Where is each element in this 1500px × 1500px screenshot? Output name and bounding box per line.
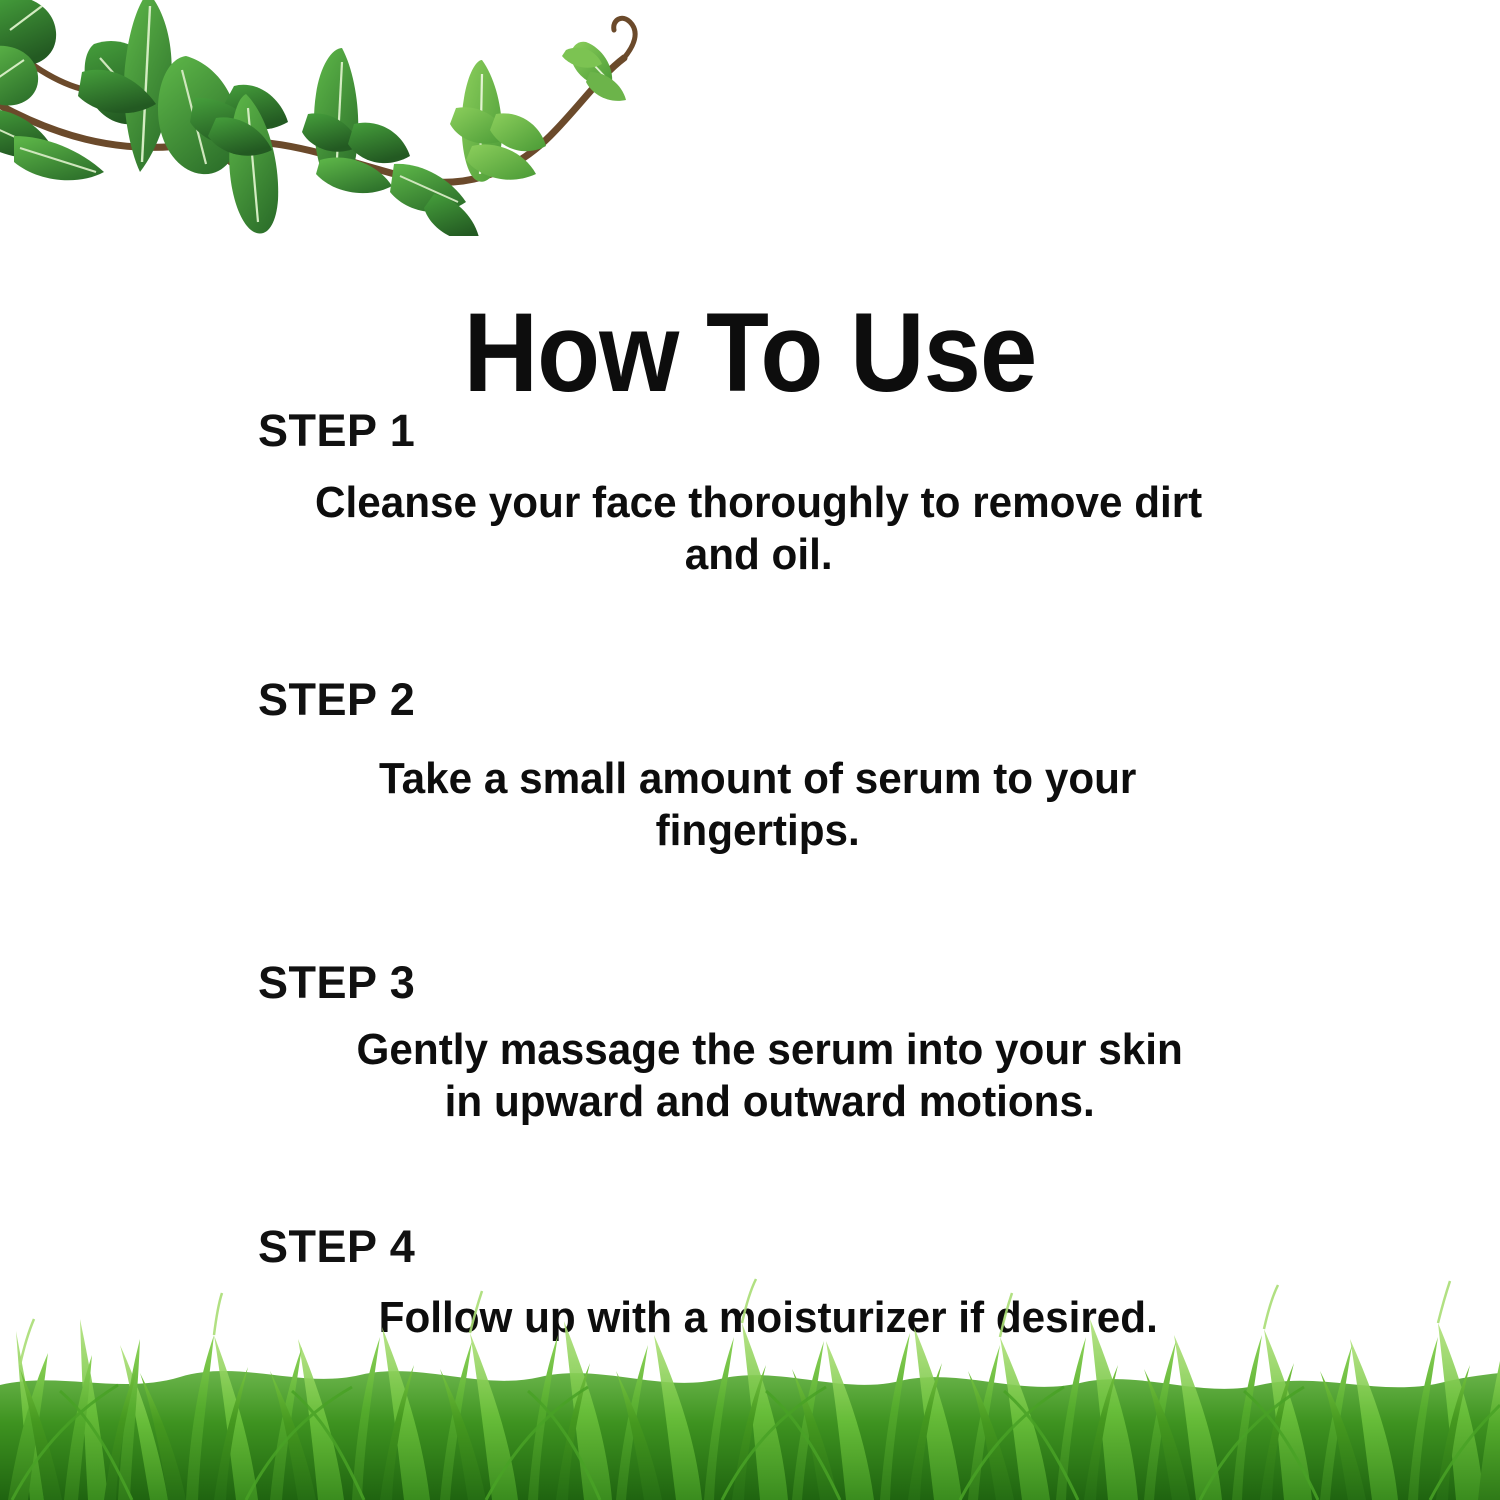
- step-label-4: STEP 4: [0, 1224, 1500, 1270]
- step-description-1: Cleanse your face thoroughly to remove d…: [257, 477, 1244, 581]
- steps-list: STEP 1 Cleanse your face thoroughly to r…: [0, 408, 1500, 1344]
- ivy-leaf-tip: [562, 42, 626, 101]
- step-item-1: STEP 1 Cleanse your face thoroughly to r…: [0, 408, 1500, 581]
- step-label-3: STEP 3: [0, 960, 1500, 1006]
- page-title: How To Use: [60, 297, 1440, 409]
- step-description-2: Take a small amount of serum to your fin…: [258, 753, 1243, 857]
- step-label-2: STEP 2: [0, 677, 1500, 723]
- ivy-leaf-cluster-lower-right: [390, 164, 480, 236]
- step-item-4: STEP 4 Follow up with a moisturizer if d…: [0, 1224, 1500, 1344]
- ivy-leaf-cluster-left: [0, 0, 104, 180]
- step-item-2: STEP 2 Take a small amount of serum to y…: [0, 677, 1500, 857]
- step-item-3: STEP 3 Gently massage the serum into you…: [0, 960, 1500, 1128]
- step-label-1: STEP 1: [0, 408, 1500, 454]
- ivy-leaf-cluster-mid-right: [302, 48, 410, 193]
- ivy-vine-icon: [0, 0, 690, 236]
- ivy-vine-decoration: [0, 0, 690, 236]
- step-description-4: Follow up with a moisturizer if desired.: [329, 1292, 1172, 1344]
- step-description-3: Gently massage the serum into your skin …: [296, 1024, 1203, 1128]
- ivy-leaf-cluster-center: [208, 94, 278, 234]
- ivy-leaf-cluster-mid: [158, 56, 288, 174]
- ivy-leaf-cluster-mid-left: [78, 0, 172, 172]
- ivy-leaf-cluster-right: [450, 60, 546, 182]
- how-to-use-poster: How To Use STEP 1 Cleanse your face thor…: [0, 0, 1500, 1500]
